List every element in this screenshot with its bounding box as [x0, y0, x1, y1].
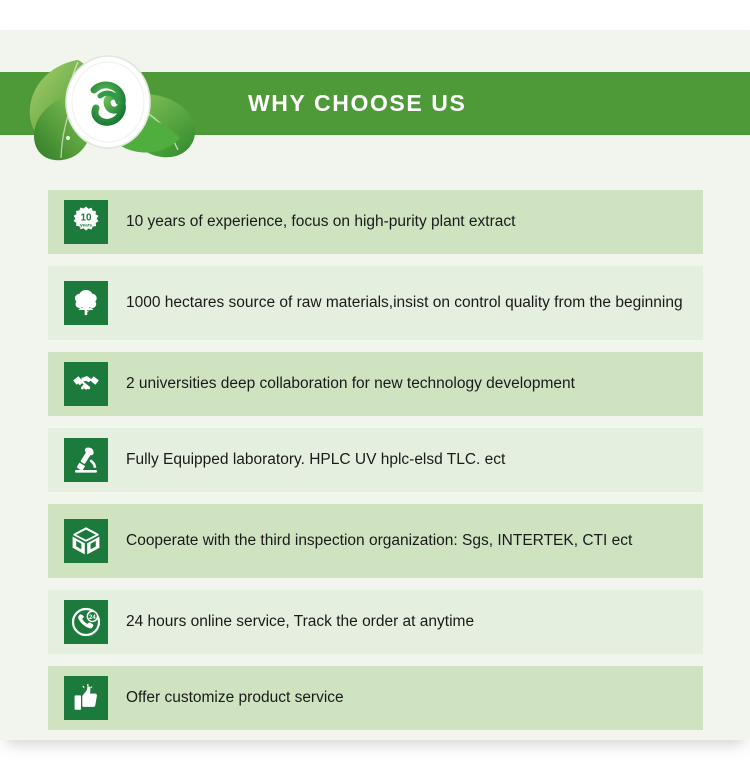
list-item[interactable]: Fully Equipped laboratory. HPLC UV hplc-… [48, 428, 703, 492]
list-item[interactable]: Offer customize product service [48, 666, 703, 730]
content-card: WHY CHOOSE US [0, 30, 750, 740]
list-item-text: 2 universities deep collaboration for ne… [126, 373, 587, 395]
handshake-icon [64, 362, 108, 406]
list-item-text: 1000 hectares source of raw materials,in… [126, 292, 695, 314]
list-item[interactable]: 24 24 hours online service, Track the or… [48, 590, 703, 654]
list-item-text: Fully Equipped laboratory. HPLC UV hplc-… [126, 449, 517, 471]
phone-24h-icon: 24 [64, 600, 108, 644]
page-title: WHY CHOOSE US [248, 72, 466, 135]
list-item-text: 10 years of experience, focus on high-pu… [126, 211, 527, 233]
microscope-icon [64, 438, 108, 482]
ten-years-badge-icon: 10 years [64, 200, 108, 244]
list-item[interactable]: 10 years 10 years of experience, focus o… [48, 190, 703, 254]
why-choose-us-page: WHY CHOOSE US [0, 0, 750, 766]
list-item[interactable]: 1000 hectares source of raw materials,in… [48, 266, 703, 340]
feature-list: 10 years 10 years of experience, focus o… [48, 190, 703, 742]
list-item-text: 24 hours online service, Track the order… [126, 611, 486, 633]
logo-emblem [66, 56, 150, 148]
list-item-text: Cooperate with the third inspection orga… [126, 530, 644, 552]
tree-icon [64, 281, 108, 325]
thumbs-up-icon [64, 676, 108, 720]
svg-text:24: 24 [89, 615, 96, 621]
list-item[interactable]: 2 universities deep collaboration for ne… [48, 352, 703, 416]
list-item[interactable]: Cooperate with the third inspection orga… [48, 504, 703, 578]
package-cube-icon [64, 519, 108, 563]
leaf-circle-logo [18, 48, 233, 168]
list-item-text: Offer customize product service [126, 687, 356, 709]
svg-text:years: years [80, 222, 92, 227]
